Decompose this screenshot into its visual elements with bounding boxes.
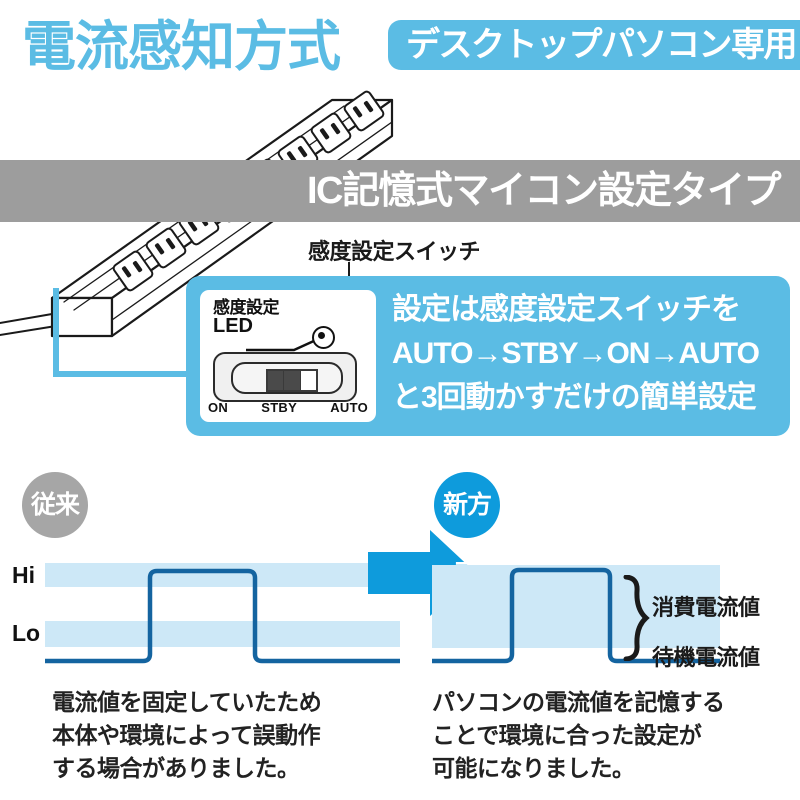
page-title: 電流感知方式 bbox=[22, 14, 382, 80]
badge-conventional: 従来 bbox=[22, 472, 88, 538]
banner: IC記憶式マイコン設定タイプ bbox=[0, 160, 800, 222]
label-standby-current: 待機電流値 bbox=[652, 640, 760, 672]
label-consumption-current: 消費電流値 bbox=[652, 590, 760, 622]
switch-slider-handle[interactable] bbox=[266, 369, 318, 392]
caption-new-method: パソコンの電流値を記憶する ことで環境に合った設定が 可能になりました。 bbox=[432, 686, 782, 785]
switch-position-labels: ON STBY AUTO bbox=[208, 400, 368, 415]
caption-old-line2: 本体や環境によって誤動作 bbox=[52, 719, 392, 752]
caption-new-line2: ことで環境に合った設定が bbox=[432, 719, 782, 752]
switch-detail-card: 感度設定 LED ON STBY AUTO bbox=[200, 290, 376, 422]
caption-old-line3: する場合がありました。 bbox=[52, 752, 392, 785]
sensitivity-switch[interactable] bbox=[213, 352, 357, 402]
led-label-line2: LED bbox=[213, 317, 279, 336]
panel-text-line1: 設定は感度設定スイッチを bbox=[392, 288, 784, 332]
switch-position-stby: STBY bbox=[261, 400, 297, 415]
switch-position-on: ON bbox=[208, 400, 228, 415]
panel-instruction-text: 設定は感度設定スイッチを AUTO→STBY→ON→AUTO と3回動かすだけの… bbox=[392, 288, 784, 420]
hi-band bbox=[45, 563, 400, 587]
panel-text-line3: と3回動かすだけの簡単設定 bbox=[392, 376, 784, 420]
banner-label: IC記憶式マイコン設定タイプ bbox=[307, 160, 780, 222]
panel-text-line2: AUTO→STBY→ON→AUTO bbox=[392, 332, 784, 376]
axis-label-lo: Lo bbox=[12, 620, 40, 647]
settings-panel: 感度設定 LED ON STBY AUTO 設定は感度設定スイッチを AUTO→… bbox=[186, 276, 790, 436]
caption-new-line1: パソコンの電流値を記憶する bbox=[432, 686, 782, 719]
chart-conventional bbox=[0, 545, 400, 675]
curly-brace-icon bbox=[620, 575, 652, 661]
switch-callout-label: 感度設定スイッチ bbox=[308, 234, 480, 266]
led-label: 感度設定 LED bbox=[213, 298, 279, 336]
led-leader-line bbox=[246, 337, 318, 353]
header-badge: デスクトップパソコン専用 bbox=[388, 20, 800, 70]
led-indicator-icon bbox=[312, 326, 335, 349]
axis-label-hi: Hi bbox=[12, 562, 35, 589]
badge-new-method: 新方式 bbox=[434, 472, 500, 538]
lo-band bbox=[45, 621, 400, 647]
caption-old-line1: 電流値を固定していたため bbox=[52, 686, 392, 719]
caption-conventional: 電流値を固定していたため 本体や環境によって誤動作 する場合がありました。 bbox=[52, 686, 392, 785]
caption-new-line3: 可能になりました。 bbox=[432, 752, 782, 785]
switch-position-auto: AUTO bbox=[330, 400, 368, 415]
switch-track[interactable] bbox=[231, 362, 343, 394]
